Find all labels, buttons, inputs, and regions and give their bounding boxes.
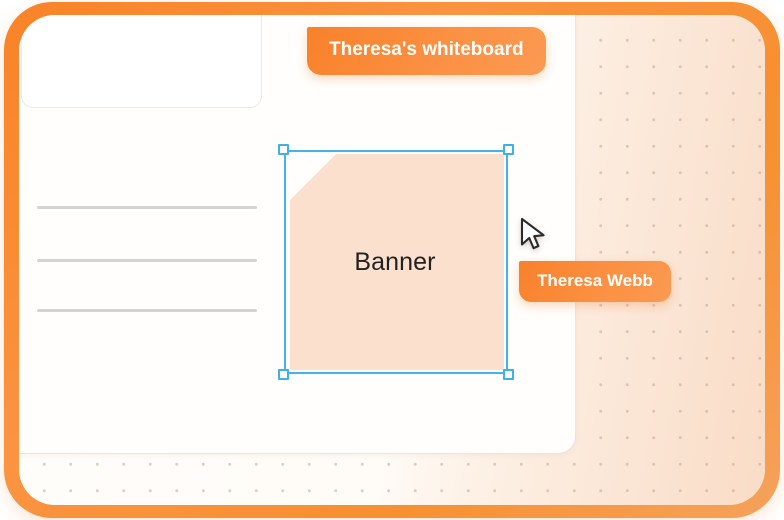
text-placeholder-line-1[interactable] <box>37 206 257 209</box>
collaborator-name-badge[interactable]: Theresa Webb <box>519 261 671 302</box>
text-placeholder-line-3[interactable] <box>37 309 257 312</box>
selected-object-banner[interactable]: Banner <box>284 150 508 374</box>
collaborator-name-label: Theresa Webb <box>537 271 653 291</box>
device-screen: Banner Theresa's whiteboard <box>19 15 765 505</box>
slide-artboard[interactable]: Banner <box>19 15 576 454</box>
screenshot-stage: Banner Theresa's whiteboard <box>0 0 784 520</box>
resize-handle-bottom-left[interactable] <box>278 369 289 380</box>
board-title-badge[interactable]: Theresa's whiteboard <box>307 27 546 75</box>
resize-handle-top-left[interactable] <box>278 144 289 155</box>
board-title-label: Theresa's whiteboard <box>329 39 524 61</box>
image-placeholder-card[interactable] <box>21 15 262 108</box>
resize-handle-top-right[interactable] <box>503 144 514 155</box>
text-placeholder-line-2[interactable] <box>37 259 257 262</box>
whiteboard-canvas[interactable]: Banner Theresa's whiteboard <box>19 15 765 505</box>
resize-handle-bottom-right[interactable] <box>503 369 514 380</box>
device-frame: Banner Theresa's whiteboard <box>4 2 780 518</box>
selection-outline <box>284 150 508 374</box>
